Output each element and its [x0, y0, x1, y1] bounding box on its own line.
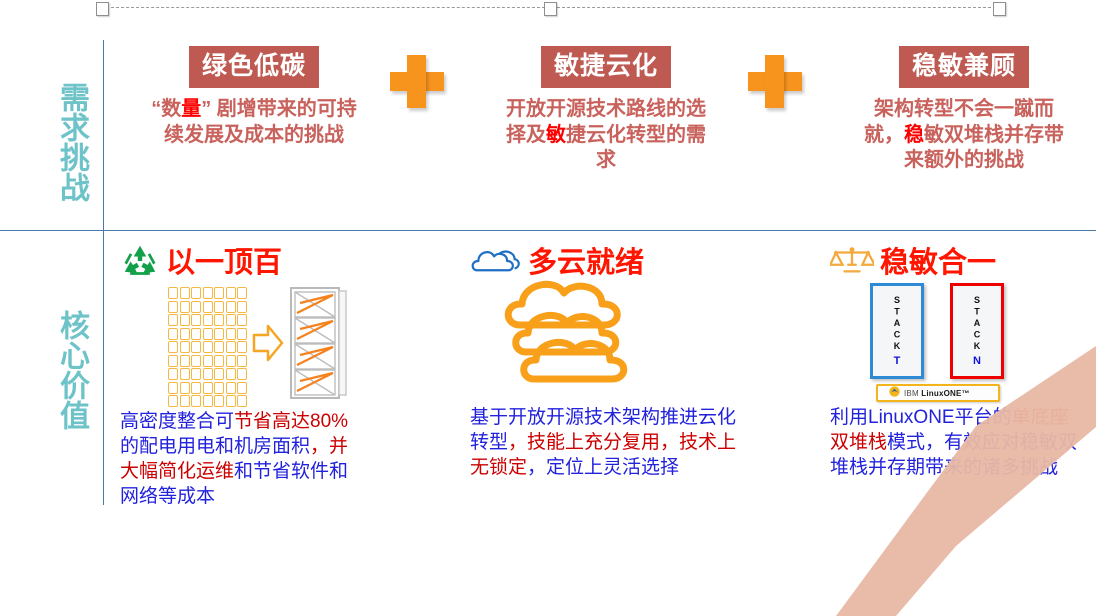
recycle-icon: [120, 244, 160, 283]
server-unit-icon: [191, 328, 201, 340]
server-unit-icon: [226, 301, 236, 313]
server-unit-icon: [226, 328, 236, 340]
server-unit-icon: [168, 328, 178, 340]
challenge-banner-1: 绿色低碳: [189, 46, 319, 88]
value-card-multicloud: 多云就绪 基于开放开源技术架构推进云化转型，技能上充分复用，技术上无锁定，定位上…: [470, 243, 735, 283]
slide-canvas: 需求挑战 核心价值 绿色低碳 “数量” 剧增带来的可持续发展及成本的挑战 敏捷云…: [0, 0, 1096, 511]
caption-segment-3: 的配电用电和机房面积: [120, 436, 310, 457]
ibm-badge-name: LinuxONE: [921, 389, 961, 398]
ibm-badge-prefix: IBM: [904, 389, 919, 398]
server-unit-icon: [203, 341, 213, 353]
challenge-card-stable-agile: 稳敏兼顾 架构转型不会一蹴而就，稳敏双堆栈并存带来额外的挑战: [858, 46, 1070, 174]
challenge-body-1-pre: “数: [151, 98, 181, 120]
server-unit-icon: [168, 382, 178, 394]
row-label-core-value: 核心价值: [26, 290, 88, 450]
value-title-3: 稳敏合一: [880, 248, 996, 279]
server-unit-icon: [203, 368, 213, 380]
server-unit-icon: [180, 368, 190, 380]
server-unit-icon: [203, 301, 213, 313]
server-unit-icon: [214, 328, 224, 340]
density-consolidation-diagram: [168, 285, 348, 400]
server-unit-icon: [226, 355, 236, 367]
value-card-1-header: 以一顶百: [120, 243, 355, 283]
caption-segment-3: ，定位上灵活选择: [527, 457, 679, 478]
server-unit-icon: [237, 368, 247, 380]
server-unit-icon: [180, 355, 190, 367]
challenge-banner-2: 敏捷云化: [541, 46, 671, 88]
ibm-logo-icon: [889, 384, 900, 402]
server-unit-icon: [214, 355, 224, 367]
row-label-demand-challenge: 需求挑战: [26, 62, 88, 222]
ibm-linuxone-badge: IBM LinuxONE™: [876, 384, 1000, 402]
arrow-right-icon: [252, 323, 284, 368]
server-unit-icon: [214, 382, 224, 394]
server-unit-icon: [191, 314, 201, 326]
server-unit-icon: [191, 341, 201, 353]
challenge-banner-3: 稳敏兼顾: [899, 46, 1029, 88]
server-unit-icon: [180, 341, 190, 353]
server-unit-icon: [226, 314, 236, 326]
server-unit-icon: [237, 287, 247, 299]
value-caption-3: 利用LinuxONE平台的单底座双堆栈模式，有效应对稳敏双堆栈并存期带来的诸多挑…: [830, 405, 1078, 480]
value-caption-2: 基于开放开源技术架构推进云化转型，技能上充分复用，技术上无锁定，定位上灵活选择: [470, 405, 738, 480]
server-unit-icon: [191, 355, 201, 367]
plus-icon-1: [388, 52, 446, 110]
server-unit-icon: [180, 301, 190, 313]
server-unit-icon: [214, 314, 224, 326]
server-unit-icon: [237, 301, 247, 313]
plus-icon-2: [746, 52, 804, 110]
server-unit-icon: [203, 328, 213, 340]
server-unit-icon: [237, 395, 247, 407]
server-unit-icon: [237, 355, 247, 367]
server-unit-icon: [226, 395, 236, 407]
value-card-3-header: 稳敏合一: [830, 243, 1075, 283]
dual-stack-diagram: STACK T STACK N IBM LinuxONE™: [866, 283, 1026, 401]
server-unit-icon: [226, 287, 236, 299]
server-unit-icon: [226, 368, 236, 380]
server-unit-icon: [168, 301, 178, 313]
ibm-badge-tm: ™: [962, 389, 970, 398]
challenge-body-2-highlight: 敏: [546, 124, 566, 146]
horizontal-divider: [0, 230, 1096, 231]
challenge-body-3-highlight: 稳: [904, 124, 924, 146]
caption-segment-1: 利用LinuxONE平台的: [830, 407, 1012, 428]
server-unit-icon: [203, 314, 213, 326]
caption-segment-1: 高密度整合可: [120, 411, 234, 432]
server-unit-icon: [214, 368, 224, 380]
server-unit-icon: [203, 355, 213, 367]
stack-t-word: STACK: [892, 295, 902, 353]
stack-t-tag: T: [894, 355, 901, 367]
server-unit-icon: [168, 395, 178, 407]
server-unit-icon: [191, 395, 201, 407]
server-unit-icon: [191, 287, 201, 299]
stack-n-tag: N: [973, 355, 981, 367]
server-unit-icon: [203, 382, 213, 394]
stack-n-box: STACK N: [950, 283, 1004, 379]
small-server-grid: [168, 287, 247, 407]
challenge-body-3-post: 敏双堆栈并存带来额外的挑战: [904, 124, 1064, 172]
server-unit-icon: [191, 368, 201, 380]
server-unit-icon: [237, 382, 247, 394]
server-unit-icon: [237, 341, 247, 353]
stack-t-box: STACK T: [870, 283, 924, 379]
server-unit-icon: [214, 395, 224, 407]
server-unit-icon: [180, 328, 190, 340]
server-unit-icon: [168, 314, 178, 326]
server-unit-icon: [203, 287, 213, 299]
server-unit-icon: [203, 395, 213, 407]
server-unit-icon: [168, 368, 178, 380]
server-unit-icon: [180, 314, 190, 326]
server-unit-icon: [237, 328, 247, 340]
server-unit-icon: [214, 287, 224, 299]
balance-scale-icon: [830, 244, 874, 283]
server-unit-icon: [180, 382, 190, 394]
value-card-density: 以一顶百: [120, 243, 355, 283]
stacked-clouds-diagram: [498, 273, 648, 396]
server-unit-icon: [168, 355, 178, 367]
value-card-dual-stack: 稳敏合一 STACK T STACK N IBM Li: [830, 243, 1075, 283]
server-unit-icon: [191, 382, 201, 394]
server-unit-icon: [168, 341, 178, 353]
server-unit-icon: [226, 382, 236, 394]
caption-segment-2: 节省高达80%: [234, 411, 348, 432]
ibm-linuxone-label: IBM LinuxONE™: [904, 389, 970, 398]
server-rack-icon: [290, 287, 348, 404]
challenge-body-1: “数量” 剧增带来的可持续发展及成本的挑战: [148, 97, 360, 148]
server-unit-icon: [191, 301, 201, 313]
server-unit-icon: [214, 301, 224, 313]
challenge-body-3: 架构转型不会一蹴而就，稳敏双堆栈并存带来额外的挑战: [858, 97, 1070, 174]
challenge-body-2: 开放开源技术路线的选择及敏捷云化转型的需求: [500, 97, 712, 174]
server-unit-icon: [180, 395, 190, 407]
value-caption-1: 高密度整合可节省高达80%的配电用电和机房面积，并大幅简化运维和节省软件和网络等…: [120, 409, 360, 509]
server-unit-icon: [180, 287, 190, 299]
stack-n-word: STACK: [972, 295, 982, 353]
server-unit-icon: [226, 341, 236, 353]
challenge-card-agile-cloud: 敏捷云化 开放开源技术路线的选择及敏捷云化转型的需求: [500, 46, 712, 174]
challenge-card-green-low-carbon: 绿色低碳 “数量” 剧增带来的可持续发展及成本的挑战: [148, 46, 360, 148]
value-title-1: 以一顶百: [166, 248, 282, 279]
challenge-body-1-highlight: 量: [181, 98, 201, 120]
server-unit-icon: [237, 314, 247, 326]
server-unit-icon: [214, 341, 224, 353]
server-unit-icon: [168, 287, 178, 299]
vertical-divider: [103, 40, 104, 505]
challenge-body-2-post: 捷云化转型的需求: [566, 124, 706, 172]
